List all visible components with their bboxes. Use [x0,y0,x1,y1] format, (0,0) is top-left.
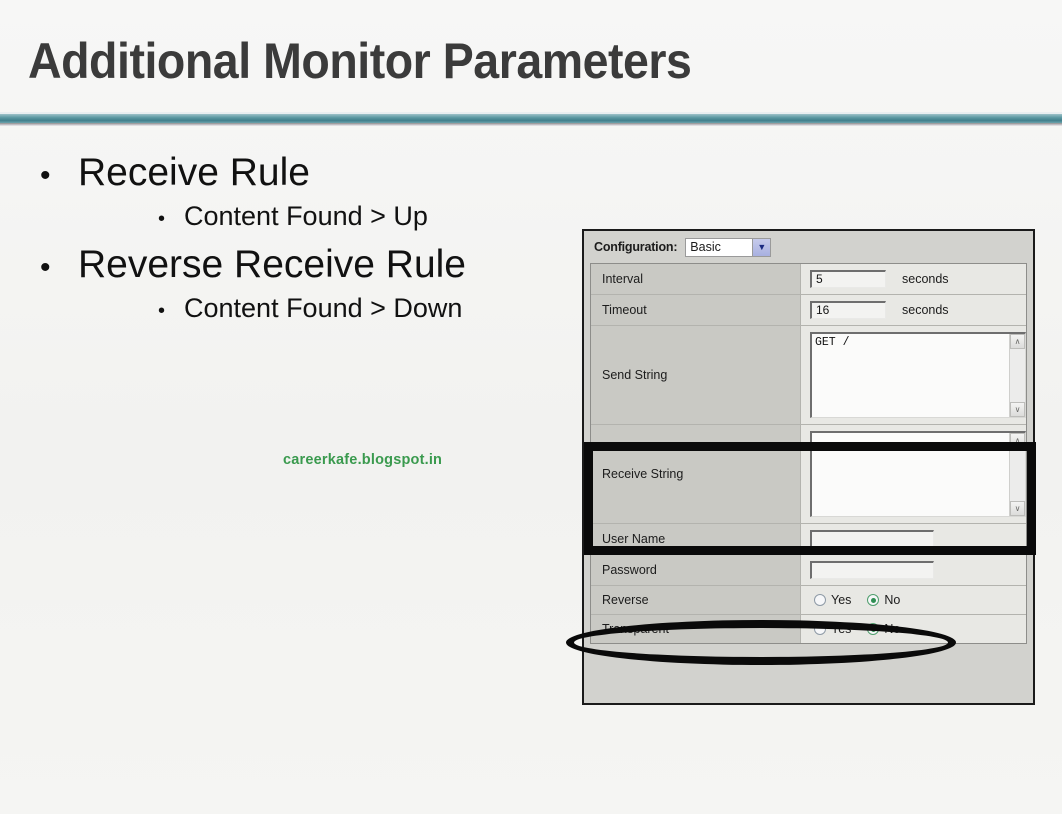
bullet-label: Receive Rule [78,150,310,196]
transparent-yes-radio[interactable] [814,623,826,635]
table-row-interval: Interval 5 seconds [591,264,1026,295]
table-row-send-string: Send String GET / ∧ ∨ [591,326,1026,425]
table-row-transparent: Transparent Yes No [591,615,1026,643]
sub-bullet-marker-icon: • [158,301,184,321]
receive-string-scrollbar[interactable]: ∧ ∨ [1009,433,1025,516]
divider-bar [0,114,1062,123]
scroll-up-icon[interactable]: ∧ [1010,334,1025,349]
bullet-label: Reverse Receive Rule [78,242,466,288]
bullet-marker-icon: • [40,253,78,283]
row-value: ∧ ∨ [801,425,1026,523]
timeout-unit-label: seconds [902,303,949,317]
configuration-dropdown[interactable]: Basic ▼ [685,238,771,257]
sub-bullet-label: Content Found > Up [184,200,428,232]
transparent-radio-group: Yes No [810,622,916,636]
title-area: Additional Monitor Parameters [0,0,1062,112]
receive-string-value [812,433,1009,516]
configuration-label: Configuration: [594,240,677,254]
table-row-user-name: User Name [591,524,1026,555]
row-label: Receive String [591,425,801,523]
sub-bullet-item-content-found-down: • Content Found > Down [40,292,560,324]
radio-selected-icon [871,627,876,632]
row-label: Interval [591,264,801,294]
timeout-input[interactable]: 16 [810,301,886,319]
send-string-scrollbar[interactable]: ∧ ∨ [1009,334,1025,417]
reverse-yes-radio[interactable] [814,594,826,606]
transparent-yes-label: Yes [831,622,851,636]
bullet-item-reverse-receive-rule: • Reverse Receive Rule [40,242,560,288]
title-divider [0,112,1062,126]
configuration-header: Configuration: Basic ▼ [584,231,1033,263]
monitor-configuration-panel: Configuration: Basic ▼ Interval 5 second… [582,229,1035,705]
page-title: Additional Monitor Parameters [28,32,691,90]
interval-unit-label: seconds [902,272,949,286]
table-row-receive-string: Receive String ∧ ∨ [591,425,1026,524]
table-row-timeout: Timeout 16 seconds [591,295,1026,326]
divider-shadow [0,123,1062,126]
row-value: GET / ∧ ∨ [801,326,1026,424]
watermark-text: careerkafe.blogspot.in [283,452,442,468]
reverse-no-radio[interactable] [867,594,879,606]
row-label: Send String [591,326,801,424]
configuration-dropdown-value: Basic [686,240,752,254]
row-label: Reverse [591,586,801,614]
sub-bullet-label: Content Found > Down [184,292,462,324]
row-value [801,555,1026,585]
sub-bullet-marker-icon: • [158,209,184,229]
reverse-no-label: No [884,593,900,607]
reverse-radio-group: Yes No [810,593,916,607]
row-value: 16 seconds [801,295,1026,325]
row-label: Password [591,555,801,585]
transparent-no-radio[interactable] [867,623,879,635]
interval-input[interactable]: 5 [810,270,886,288]
table-row-password: Password [591,555,1026,586]
row-label: Timeout [591,295,801,325]
send-string-textarea[interactable]: GET / ∧ ∨ [810,332,1026,418]
receive-string-textarea[interactable]: ∧ ∨ [810,431,1026,517]
slide-canvas: Additional Monitor Parameters • Receive … [0,0,1062,814]
reverse-yes-label: Yes [831,593,851,607]
send-string-value: GET / [812,334,1009,417]
chevron-down-icon[interactable]: ▼ [752,239,770,256]
row-value: Yes No [801,615,1026,643]
scroll-up-icon[interactable]: ∧ [1010,433,1025,448]
bullet-marker-icon: • [40,161,78,191]
sub-bullet-item-content-found-up: • Content Found > Up [40,200,560,232]
radio-selected-icon [871,598,876,603]
row-label: Transparent [591,615,801,643]
bullet-item-receive-rule: • Receive Rule [40,150,560,196]
row-label: User Name [591,524,801,554]
user-name-input[interactable] [810,530,934,548]
row-value [801,524,1026,554]
scroll-down-icon[interactable]: ∨ [1010,402,1025,417]
password-input[interactable] [810,561,934,579]
row-value: Yes No [801,586,1026,614]
row-value: 5 seconds [801,264,1026,294]
transparent-no-label: No [884,622,900,636]
table-row-reverse: Reverse Yes No [591,586,1026,615]
bullet-list: • Receive Rule • Content Found > Up • Re… [40,150,560,335]
configuration-table: Interval 5 seconds Timeout 16 seconds Se… [590,263,1027,644]
scroll-down-icon[interactable]: ∨ [1010,501,1025,516]
